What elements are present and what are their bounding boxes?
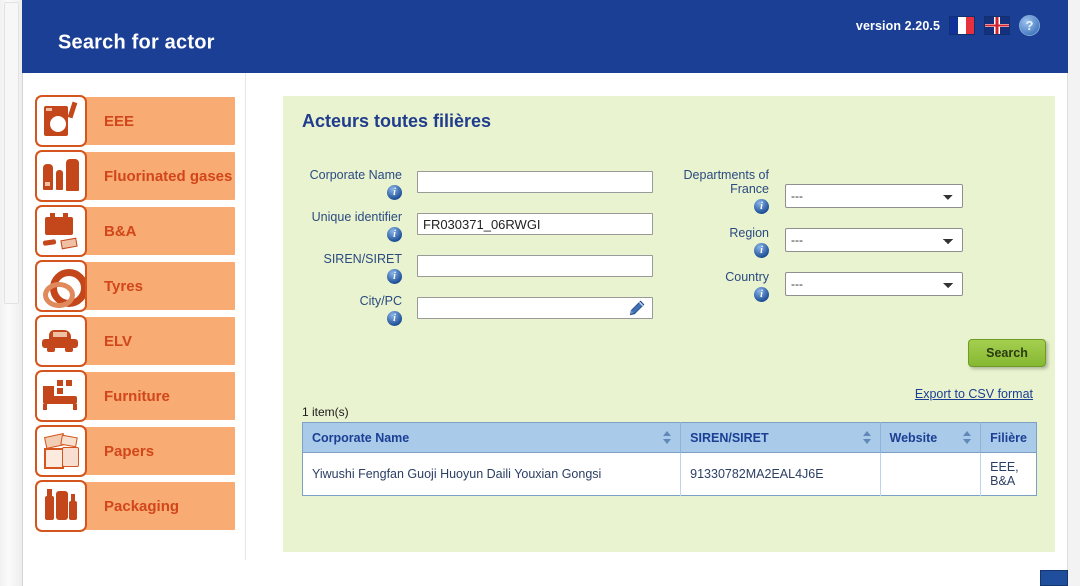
sidebar-item-label: Packaging [87,498,179,515]
pencil-icon[interactable] [629,300,645,316]
departments-of-france-select[interactable]: --- [785,184,963,208]
header-toolbar: version 2.20.5 ? [856,15,1040,36]
column-siren-siret[interactable]: SIREN/SIRET [681,423,880,453]
corporate-name-input[interactable] [417,171,653,193]
siren-siret-input[interactable] [417,255,653,277]
region-select[interactable]: --- [785,228,963,252]
sidebar-item-furniture[interactable]: Furniture [36,372,235,420]
left-scrollbar-thumb[interactable] [4,2,19,304]
left-scrollbar[interactable] [0,0,23,586]
bed-icon [35,370,87,422]
field-city-pc: City/PC i [302,294,682,326]
field-region: Region i --- [669,226,1049,258]
sidebar-item-elv[interactable]: ELV [36,317,235,365]
field-label: Corporate Name [310,168,402,182]
column-label: Corporate Name [312,431,409,445]
field-country: Country i --- [669,270,1049,302]
sidebar-item-label: ELV [87,333,132,350]
help-icon[interactable]: ? [1019,15,1040,36]
france-flag-icon[interactable] [949,16,975,35]
form-right-column: Departments of France i --- Region i --- [669,168,1049,312]
field-siren-siret: SIREN/SIRET i [302,252,682,284]
cell-corporate-name: Yiwushi Fengfan Guoji Huoyun Daili Youxi… [303,453,681,496]
unique-identifier-input[interactable] [417,213,653,235]
right-scrollbar[interactable] [1067,0,1080,586]
field-label: SIREN/SIRET [324,252,403,266]
sidebar-item-eee[interactable]: EEE [36,97,235,145]
field-label: City/PC [360,294,402,308]
gas-cylinder-icon [35,150,87,202]
field-corporate-name: Corporate Name i [302,168,682,200]
sidebar-item-label: Tyres [87,278,143,295]
field-label: Unique identifier [312,210,402,224]
sort-icon[interactable] [863,431,871,444]
field-label: Country [725,270,769,284]
paper-icon [35,425,87,477]
bottles-icon [35,480,87,532]
sidebar-item-packaging[interactable]: Packaging [36,482,235,530]
sidebar-item-papers[interactable]: Papers [36,427,235,475]
field-label: Region [729,226,769,240]
city-pc-input[interactable] [417,297,653,319]
uk-flag-icon[interactable] [984,16,1010,35]
table-header-row: Corporate Name SIREN/SIRET Website Filiè… [303,423,1037,453]
info-icon[interactable]: i [754,287,769,302]
results-table: Corporate Name SIREN/SIRET Website Filiè… [302,422,1037,496]
cell-filiere: EEE, B&A [981,453,1037,496]
form-left-column: Corporate Name i Unique identifier i SIR… [302,168,682,336]
appliance-icon [35,95,87,147]
field-departments-of-france: Departments of France i --- [669,168,1049,214]
battery-icon [35,205,87,257]
column-corporate-name[interactable]: Corporate Name [303,423,681,453]
info-icon[interactable]: i [387,185,402,200]
sort-icon[interactable] [663,431,671,444]
field-unique-identifier: Unique identifier i [302,210,682,242]
search-panel: Acteurs toutes filières Corporate Name i… [283,96,1055,552]
sidebar-item-label: Fluorinated gases [87,168,232,185]
column-label: Website [890,431,938,445]
column-filiere[interactable]: Filière [981,423,1037,453]
sidebar-item-b-and-a[interactable]: B&A [36,207,235,255]
field-label: Departments of France [669,168,769,196]
info-icon[interactable]: i [387,311,402,326]
sidebar-item-label: Furniture [87,388,170,405]
car-icon [35,315,87,367]
column-label: Filière [990,431,1027,445]
version-label: version 2.20.5 [856,19,940,33]
country-select[interactable]: --- [785,272,963,296]
result-count: 1 item(s) [302,405,349,419]
sidebar-item-label: B&A [87,223,137,240]
cell-siren-siret: 91330782MA2EAL4J6E [681,453,880,496]
sort-icon[interactable] [963,431,971,444]
tyre-icon [35,260,87,312]
info-icon[interactable]: i [754,199,769,214]
page-title: Search for actor [58,32,215,55]
sidebar: EEE Fluorinated gases B&A [23,73,246,560]
info-icon[interactable]: i [754,243,769,258]
column-website[interactable]: Website [880,423,981,453]
status-indicator [1040,570,1068,586]
panel-title: Acteurs toutes filières [302,111,491,132]
cell-website [880,453,981,496]
info-icon[interactable]: i [387,227,402,242]
sidebar-item-fluorinated-gases[interactable]: Fluorinated gases [36,152,235,200]
export-csv-link[interactable]: Export to CSV format [915,387,1033,401]
sidebar-item-label: Papers [87,443,154,460]
column-label: SIREN/SIRET [690,431,769,445]
info-icon[interactable]: i [387,269,402,284]
sidebar-item-label: EEE [87,113,134,130]
sidebar-item-tyres[interactable]: Tyres [36,262,235,310]
table-row[interactable]: Yiwushi Fengfan Guoji Huoyun Daili Youxi… [303,453,1037,496]
app-window: Search for actor version 2.20.5 ? EEE [0,0,1080,586]
search-button[interactable]: Search [968,339,1046,367]
app-header: Search for actor version 2.20.5 ? [22,0,1068,73]
